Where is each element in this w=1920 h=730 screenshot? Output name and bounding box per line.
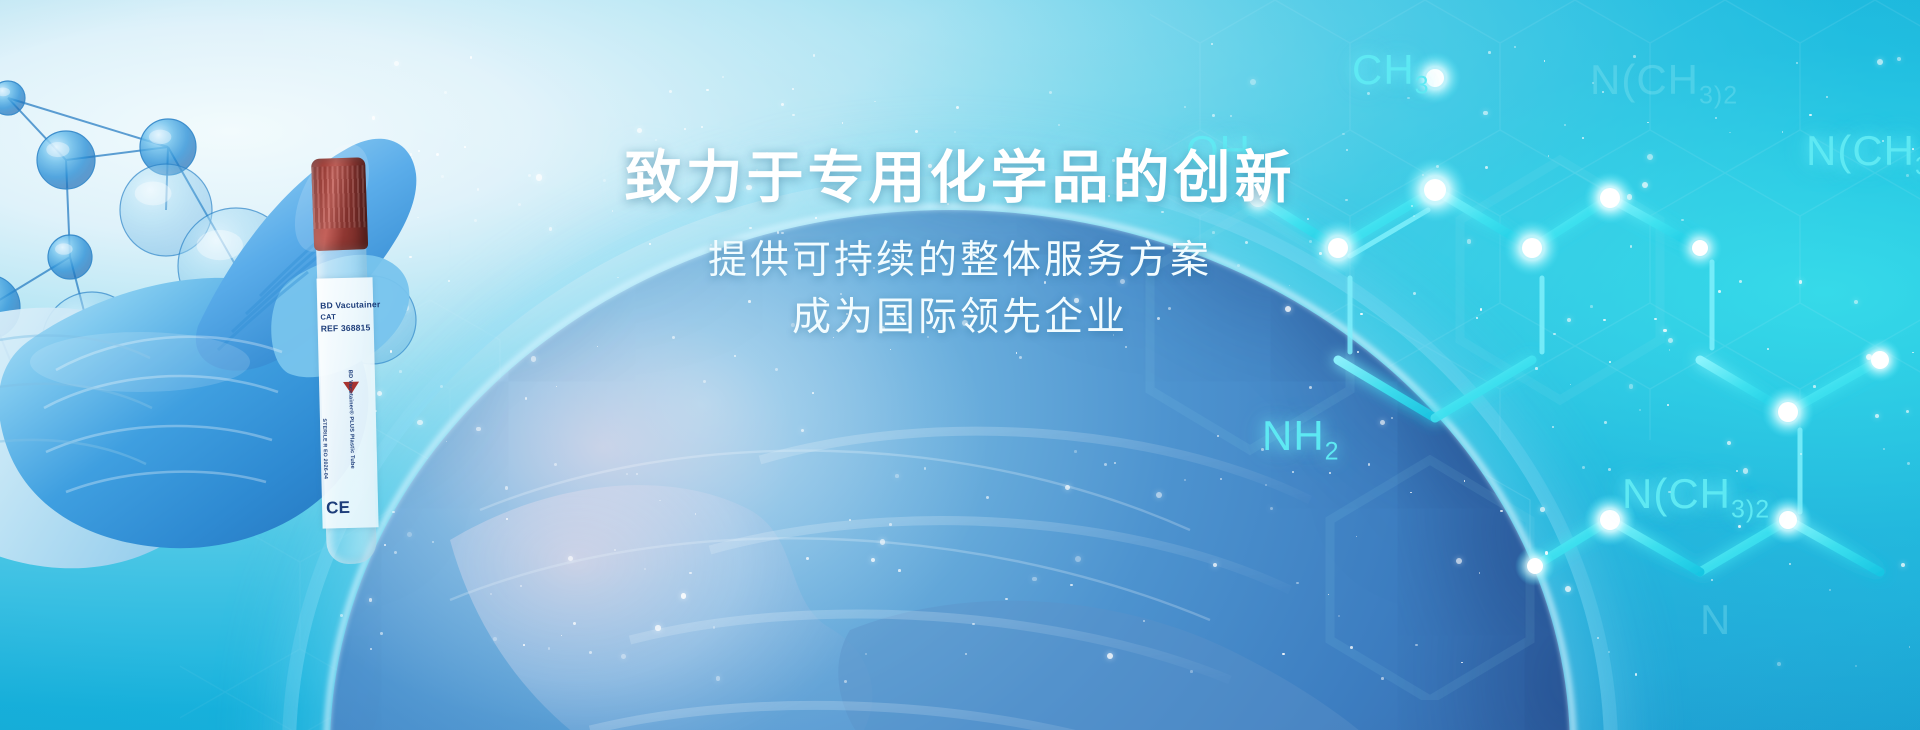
blood-collection-tube: BD Vacutainer CAT REF 368815 BD Vacutain… — [305, 157, 385, 559]
ce-mark-icon: CE — [326, 498, 351, 519]
chem-label-ch3: CH3 — [1352, 46, 1430, 100]
chem-label-nch3-2-bottom: N(CH3)2 — [1622, 470, 1770, 524]
tube-label: BD Vacutainer CAT REF 368815 BD Vacutain… — [317, 277, 379, 528]
chem-label-n-ghost-top: N(CH3)2 — [1590, 56, 1738, 110]
tube-label-ref: REF 368815 — [321, 322, 371, 333]
tube-label-side-text-2: STERILE R EO 2026-04 — [321, 418, 328, 479]
chem-label-oh: OH — [1186, 127, 1251, 175]
tube-label-brand: BD Vacutainer — [320, 299, 380, 310]
tube-cap — [311, 157, 368, 251]
chem-label-nch3-2-top: N(CH3)2 — [1806, 127, 1920, 181]
blue-glove-icon — [0, 40, 520, 730]
chem-label-n-ghost-mid: N — [1700, 596, 1731, 644]
tube-label-cat: CAT — [320, 312, 336, 321]
hero-banner: CH3OHN(CH3)2NH2N(CH3)2N(CH3)2N — [0, 0, 1920, 730]
gloved-hand-holding-tube: BD Vacutainer CAT REF 368815 BD Vacutain… — [0, 40, 520, 730]
chem-label-nh2: NH2 — [1262, 412, 1340, 466]
chemical-structure-icon — [1140, 0, 1920, 730]
